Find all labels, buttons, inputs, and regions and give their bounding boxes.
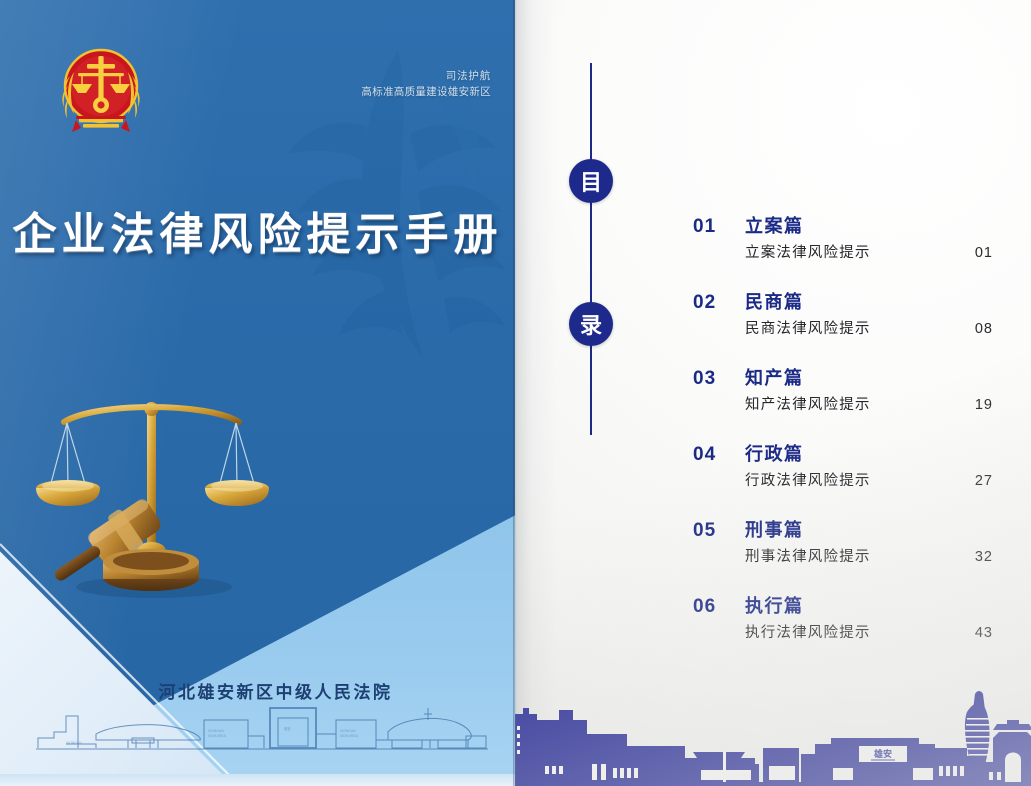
skyline-sign-label: 雄安 xyxy=(873,748,892,759)
cover-skyline-lineart-icon: XIONGAN NEW AREA XIONGAN NEW AREA 雄安 XIO… xyxy=(36,694,488,750)
toc-entry[interactable]: 02 民商篇 民商法律风险提示 08 xyxy=(693,288,993,338)
toc-entry-subtitle: 民商法律风险提示 xyxy=(745,317,871,338)
svg-text:XIONGAN: XIONGAN xyxy=(66,741,82,745)
cover-title: 企业法律风险提示手册 xyxy=(0,198,515,262)
toc-entry[interactable]: 03 知产篇 知产法律风险提示 19 xyxy=(693,364,993,414)
svg-text:NEW AREA: NEW AREA xyxy=(208,734,227,738)
toc-entry-number: 06 xyxy=(693,596,723,618)
page-gutter-shadow xyxy=(515,0,557,786)
book-spread: 司法护航 高标准高质量建设雄安新区 企业法律风险提示手册 xyxy=(0,0,1031,786)
toc-entry-number: 04 xyxy=(693,444,723,466)
toc-entry-title: 刑事篇 xyxy=(745,516,804,542)
toc-entry-page: 32 xyxy=(961,549,993,565)
svg-text:NEW AREA: NEW AREA xyxy=(340,734,359,738)
toc-entry-sub: 知产法律风险提示 19 xyxy=(693,393,993,414)
china-court-emblem-icon xyxy=(52,42,150,142)
toc-entry-title: 执行篇 xyxy=(745,592,804,618)
toc-entry-head: 01 立案篇 xyxy=(693,212,993,238)
toc-entry-subtitle: 刑事法律风险提示 xyxy=(745,545,871,566)
toc-entry-head: 02 民商篇 xyxy=(693,288,993,314)
toc-entry[interactable]: 01 立案篇 立案法律风险提示 01 xyxy=(693,212,993,262)
toc-entry-page: 43 xyxy=(961,625,993,641)
toc-entry-sub: 行政法律风险提示 27 xyxy=(693,469,993,490)
toc-entry-head: 05 刑事篇 xyxy=(693,516,993,542)
toc-entry-page: 27 xyxy=(961,473,993,489)
toc-entry-page: 19 xyxy=(961,397,993,413)
toc-badge-mu: 目 xyxy=(569,159,613,203)
toc-entry-subtitle: 立案法律风险提示 xyxy=(745,241,871,262)
toc-entry-title: 民商篇 xyxy=(745,288,804,314)
cover-tagline: 司法护航 高标准高质量建设雄安新区 xyxy=(361,68,491,101)
toc-entry-head: 04 行政篇 xyxy=(693,440,993,466)
toc-entry-subtitle: 行政法律风险提示 xyxy=(745,469,871,490)
svg-text:雄安: 雄安 xyxy=(284,726,291,731)
toc-entry-head: 03 知产篇 xyxy=(693,364,993,390)
toc-vertical-rail xyxy=(590,63,592,435)
toc-entry-sub: 执行法律风险提示 43 xyxy=(693,621,993,642)
toc-entry-head: 06 执行篇 xyxy=(693,592,993,618)
svg-text:XIONGAN: XIONGAN xyxy=(340,729,356,733)
toc-badge-lu: 录 xyxy=(569,302,613,346)
toc-entry-page: 08 xyxy=(961,321,993,337)
tagline-line-2: 高标准高质量建设雄安新区 xyxy=(361,84,491,100)
toc-entry-number: 03 xyxy=(693,368,723,390)
toc-entry[interactable]: 05 刑事篇 刑事法律风险提示 32 xyxy=(693,516,993,566)
toc-entry-title: 行政篇 xyxy=(745,440,804,466)
toc-entry-subtitle: 知产法律风险提示 xyxy=(745,393,871,414)
toc-entry-sub: 立案法律风险提示 01 xyxy=(693,241,993,262)
toc-entry[interactable]: 04 行政篇 行政法律风险提示 27 xyxy=(693,440,993,490)
toc-entry-number: 02 xyxy=(693,292,723,314)
table-of-contents-page: 目 录 01 立案篇 立案法律风险提示 01 02 民商篇 xyxy=(515,0,1031,786)
toc-entry[interactable]: 06 执行篇 执行法律风险提示 43 xyxy=(693,592,993,642)
scales-of-justice-icon xyxy=(34,382,304,607)
cover-bottom-bar xyxy=(0,774,515,786)
cover-page: 司法护航 高标准高质量建设雄安新区 企业法律风险提示手册 xyxy=(0,0,515,786)
svg-text:XIONGAN: XIONGAN xyxy=(208,729,224,733)
toc-entry-number: 05 xyxy=(693,520,723,542)
toc-entry-sub: 民商法律风险提示 08 xyxy=(693,317,993,338)
toc-entry-title: 知产篇 xyxy=(745,364,804,390)
toc-entry-number: 01 xyxy=(693,216,723,238)
city-skyline-silhouette-icon: 雄安 xyxy=(515,686,1031,786)
toc-entry-subtitle: 执行法律风险提示 xyxy=(745,621,871,642)
toc-entry-title: 立案篇 xyxy=(745,212,804,238)
toc-entry-page: 01 xyxy=(961,245,993,261)
toc-entry-sub: 刑事法律风险提示 32 xyxy=(693,545,993,566)
toc-list: 01 立案篇 立案法律风险提示 01 02 民商篇 民商法律风险提示 08 xyxy=(693,212,993,668)
tagline-line-1: 司法护航 xyxy=(361,68,491,84)
